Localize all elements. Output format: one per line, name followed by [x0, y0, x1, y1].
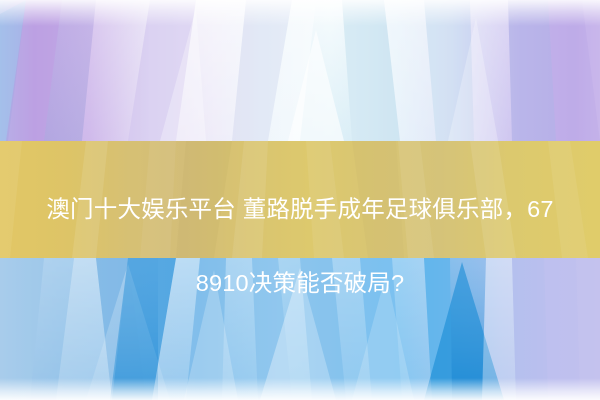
background-region-top — [0, 0, 600, 141]
headline-line-1: 澳门十大娱乐平台 董路脱手成年足球俱乐部，67 — [0, 191, 600, 228]
headline-line-2: 8910决策能否破局? — [0, 265, 600, 302]
banner-image: 澳门十大娱乐平台 董路脱手成年足球俱乐部，67 8910决策能否破局? — [0, 0, 600, 400]
top-white-haze — [0, 0, 600, 26]
bottom-white-haze — [0, 378, 600, 400]
headline-text: 澳门十大娱乐平台 董路脱手成年足球俱乐部，67 8910决策能否破局? — [0, 154, 600, 339]
